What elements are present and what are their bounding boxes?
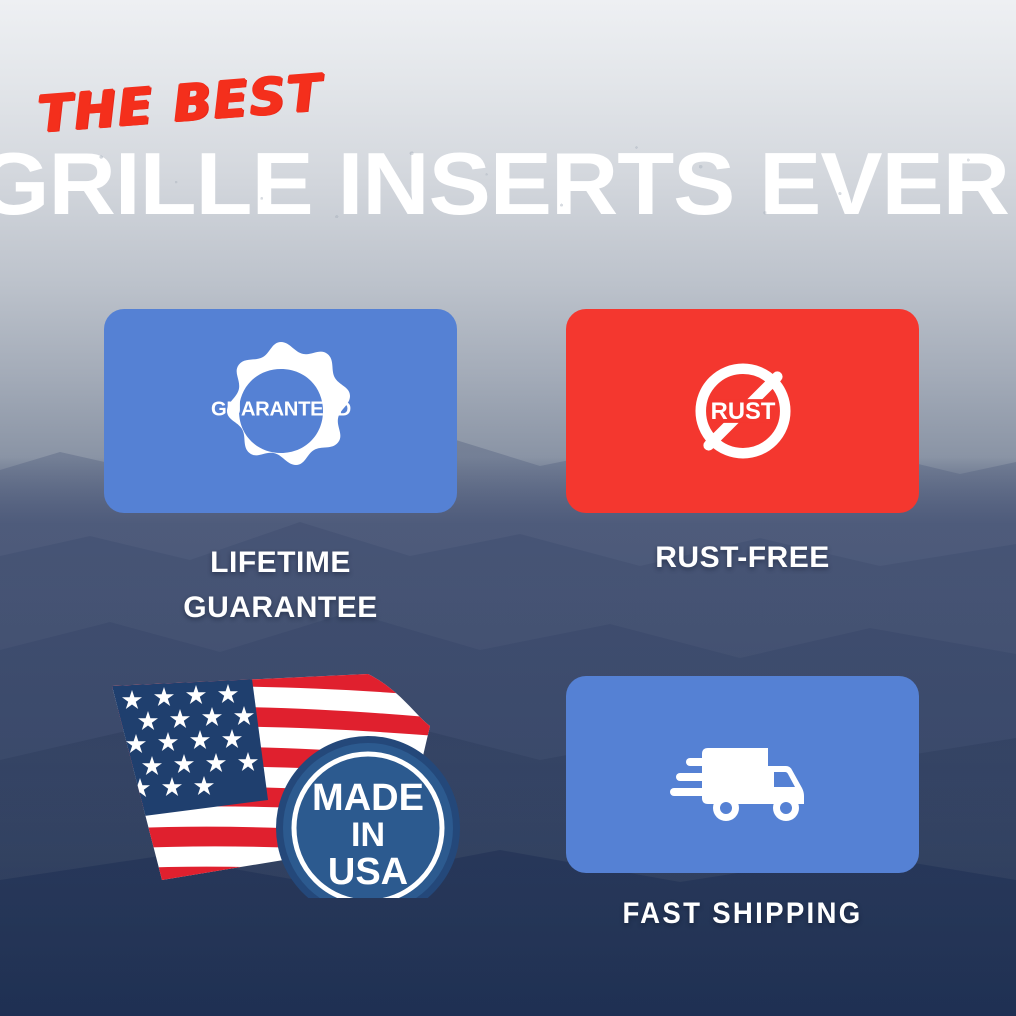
- caption-line-1: LIFETIME: [104, 540, 457, 585]
- no-rust-label: RUST: [710, 398, 775, 425]
- page-title: GRILLE INSERTS EVER!: [0, 140, 1016, 228]
- delivery-truck-icon: [668, 722, 818, 827]
- feature-card-rust-free[interactable]: RUST: [566, 309, 919, 513]
- caption-line-2: GUARANTEE: [104, 585, 457, 630]
- usa-flag-icon: MADE IN USA: [100, 668, 460, 898]
- feature-caption-lifetime-guarantee: LIFETIME GUARANTEE: [104, 540, 457, 630]
- no-rust-icon: RUST: [677, 345, 809, 477]
- feature-made-in-usa[interactable]: MADE IN USA: [100, 668, 460, 898]
- badge-line-2: IN: [351, 816, 385, 854]
- feature-caption-fast-shipping: FAST SHIPPING: [580, 897, 905, 931]
- headline-main: GRILLE INSERTS EVER!: [0, 140, 1016, 228]
- feature-caption-rust-free: RUST-FREE: [566, 541, 919, 575]
- feature-card-fast-shipping[interactable]: [566, 676, 919, 873]
- promo-graphic: THE BEST GRILLE INSERTS EVER! GUARANTEED…: [0, 0, 1016, 1016]
- guarantee-seal-label: GUARANTEED: [211, 399, 351, 421]
- feature-card-lifetime-guarantee[interactable]: GUARANTEED: [104, 309, 457, 513]
- guarantee-seal-icon: GUARANTEED: [206, 336, 356, 486]
- badge-line-1: MADE: [312, 777, 424, 819]
- badge-line-3: USA: [328, 851, 408, 893]
